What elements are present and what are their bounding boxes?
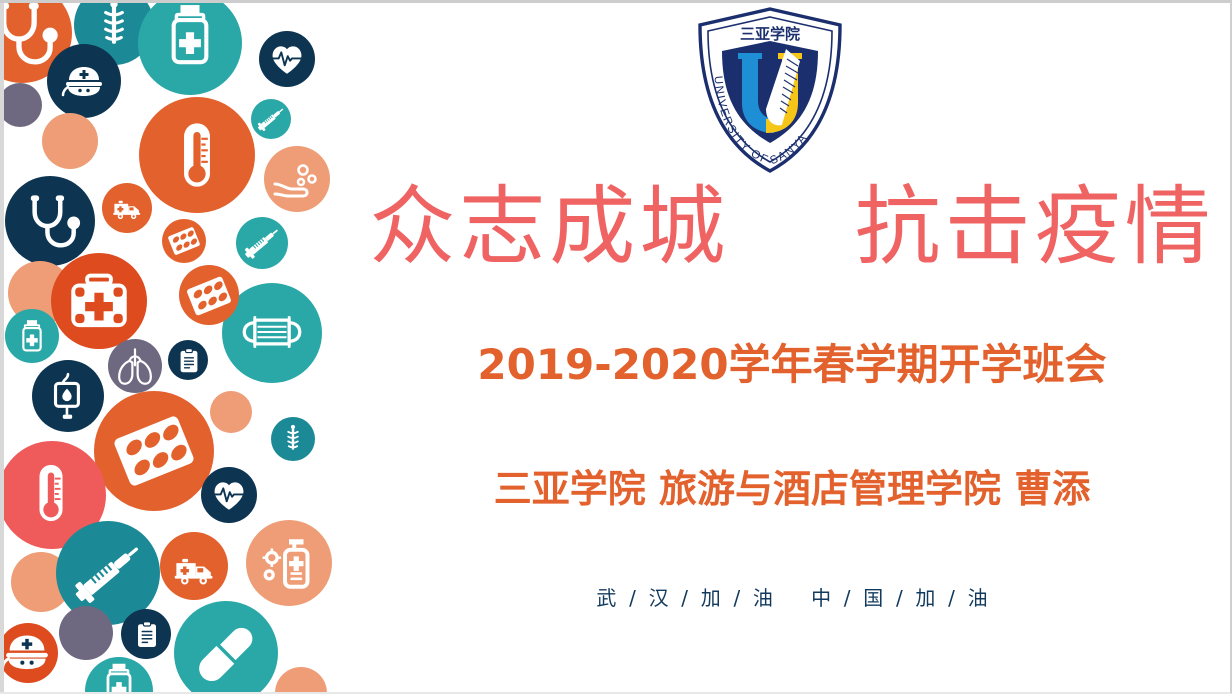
slide-headline: 众志成城 抗击疫情 xyxy=(352,175,1232,279)
slide-slogan: 武 / 汉 / 加 / 油 中 / 国 / 加 / 油 xyxy=(352,583,1232,613)
slide-subtitle-1: 2019-2020学年春学期开学班会 xyxy=(352,339,1232,391)
presentation-slide: 三亚学院 UNIVERSITY OF SANYA 众志成城 抗击疫情 2019-… xyxy=(0,0,1232,694)
university-of-sanya-crest: 三亚学院 UNIVERSITY OF SANYA xyxy=(690,5,850,177)
slide-subtitle-2: 三亚学院 旅游与酒店管理学院 曹添 xyxy=(352,465,1232,513)
medical-icon-collage xyxy=(0,3,352,694)
crest-chinese-name: 三亚学院 xyxy=(740,25,800,43)
collage-circles xyxy=(4,3,332,694)
